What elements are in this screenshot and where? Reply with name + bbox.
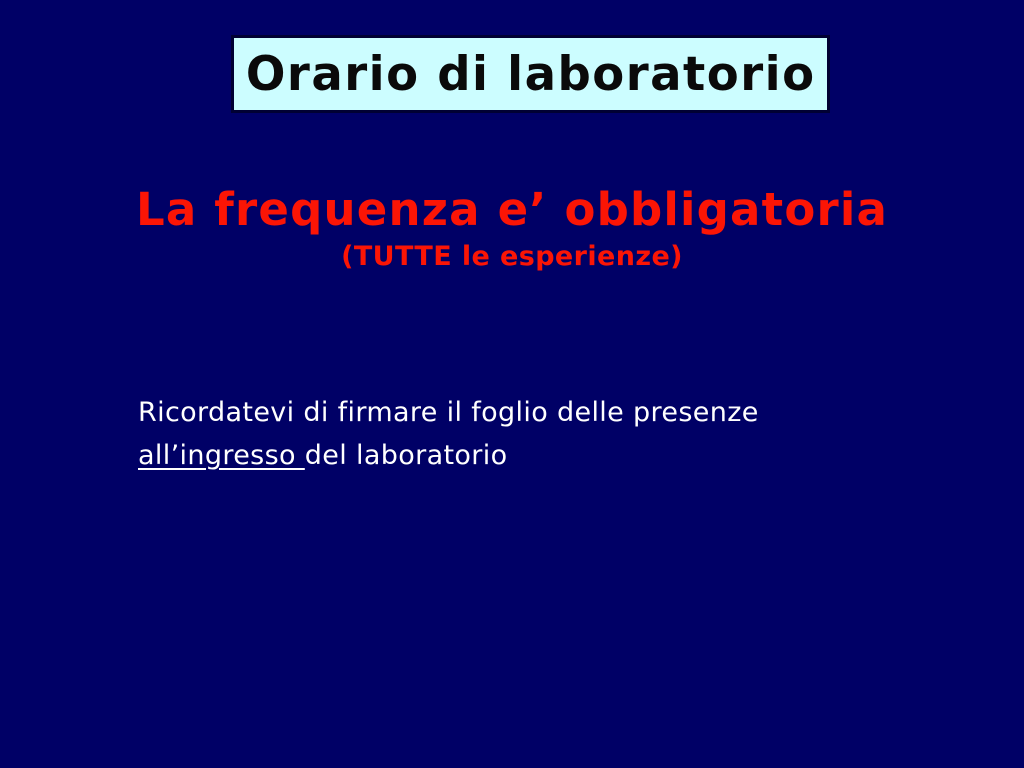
- headline-group: La frequenza e’ obbligatoria (TUTTE le e…: [0, 186, 1024, 271]
- subheadline-text: (TUTTE le esperienze): [0, 242, 1024, 272]
- body-text-group: Ricordatevi di firmare il foglio delle p…: [138, 391, 938, 477]
- title-box: Orario di laboratorio: [231, 35, 830, 113]
- body-line-2-underlined-phrase: all’ingresso: [138, 440, 305, 471]
- body-line-2-plain-phrase: del laboratorio: [305, 440, 508, 471]
- body-line-2: all’ingresso del laboratorio: [138, 434, 938, 477]
- page-title: Orario di laboratorio: [246, 51, 816, 98]
- headline-text: La frequenza e’ obbligatoria: [0, 186, 1024, 235]
- slide-canvas: Orario di laboratorio La frequenza e’ ob…: [0, 0, 1024, 768]
- body-line-1: Ricordatevi di firmare il foglio delle p…: [138, 391, 938, 434]
